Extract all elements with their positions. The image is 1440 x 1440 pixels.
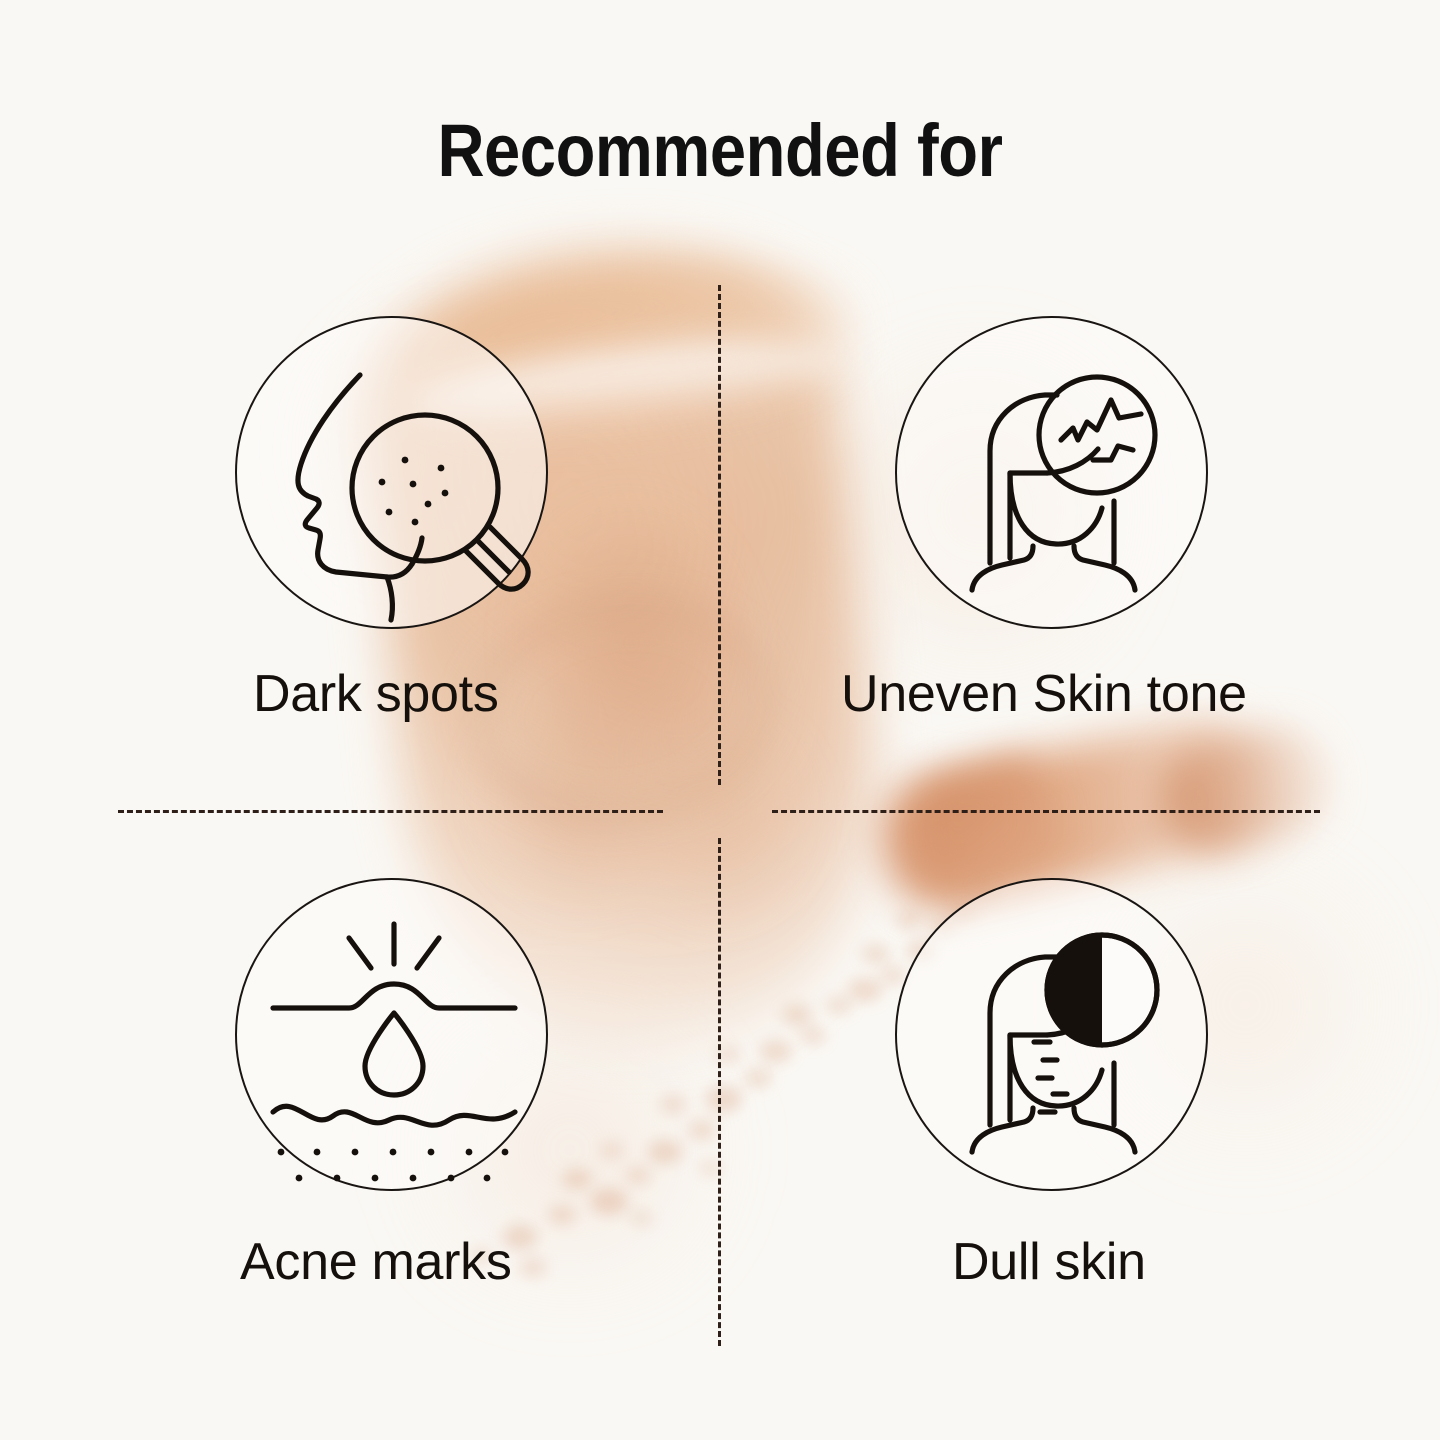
powder-grain (660, 1095, 686, 1114)
applicator-brush-tip-blur (1149, 716, 1341, 864)
powder-grain (625, 1166, 651, 1185)
face-profile-magnifier-spots-icon (235, 316, 548, 629)
powder-grain (848, 978, 882, 1002)
page-title: Recommended for (86, 108, 1353, 193)
divider-horizontal-left (118, 810, 663, 813)
woman-head-patchy-tone-icon (895, 316, 1208, 629)
powder-grain (760, 1040, 792, 1063)
divider-horizontal-right (772, 810, 1320, 813)
powder-grain (688, 1120, 716, 1140)
powder-grain (800, 1026, 826, 1045)
recommended-for-infographic: Recommended for (0, 0, 1440, 1440)
label-uneven-skin-tone: Uneven Skin tone (841, 664, 1247, 724)
powder-grain (590, 1188, 628, 1215)
label-dark-spots: Dark spots (253, 664, 499, 724)
powder-grain (706, 1086, 742, 1112)
woman-head-half-moon-contrast-icon (895, 878, 1208, 1191)
divider-vertical-bottom (718, 838, 721, 1346)
skin-layers-acne-bump-droplet-icon (235, 878, 548, 1191)
powder-grain (600, 1142, 624, 1159)
divider-vertical-top (718, 285, 721, 785)
powder-grain (630, 1210, 652, 1226)
label-dull-skin: Dull skin (952, 1232, 1146, 1292)
powder-grain (548, 1205, 576, 1225)
powder-grain (782, 1004, 812, 1026)
powder-grain (562, 1168, 592, 1190)
label-acne-marks: Acne marks (240, 1232, 512, 1292)
powder-grain (648, 1140, 682, 1164)
powder-grain (826, 996, 852, 1015)
powder-grain (862, 944, 890, 964)
powder-grain (520, 1258, 546, 1277)
powder-grain (744, 1068, 772, 1088)
